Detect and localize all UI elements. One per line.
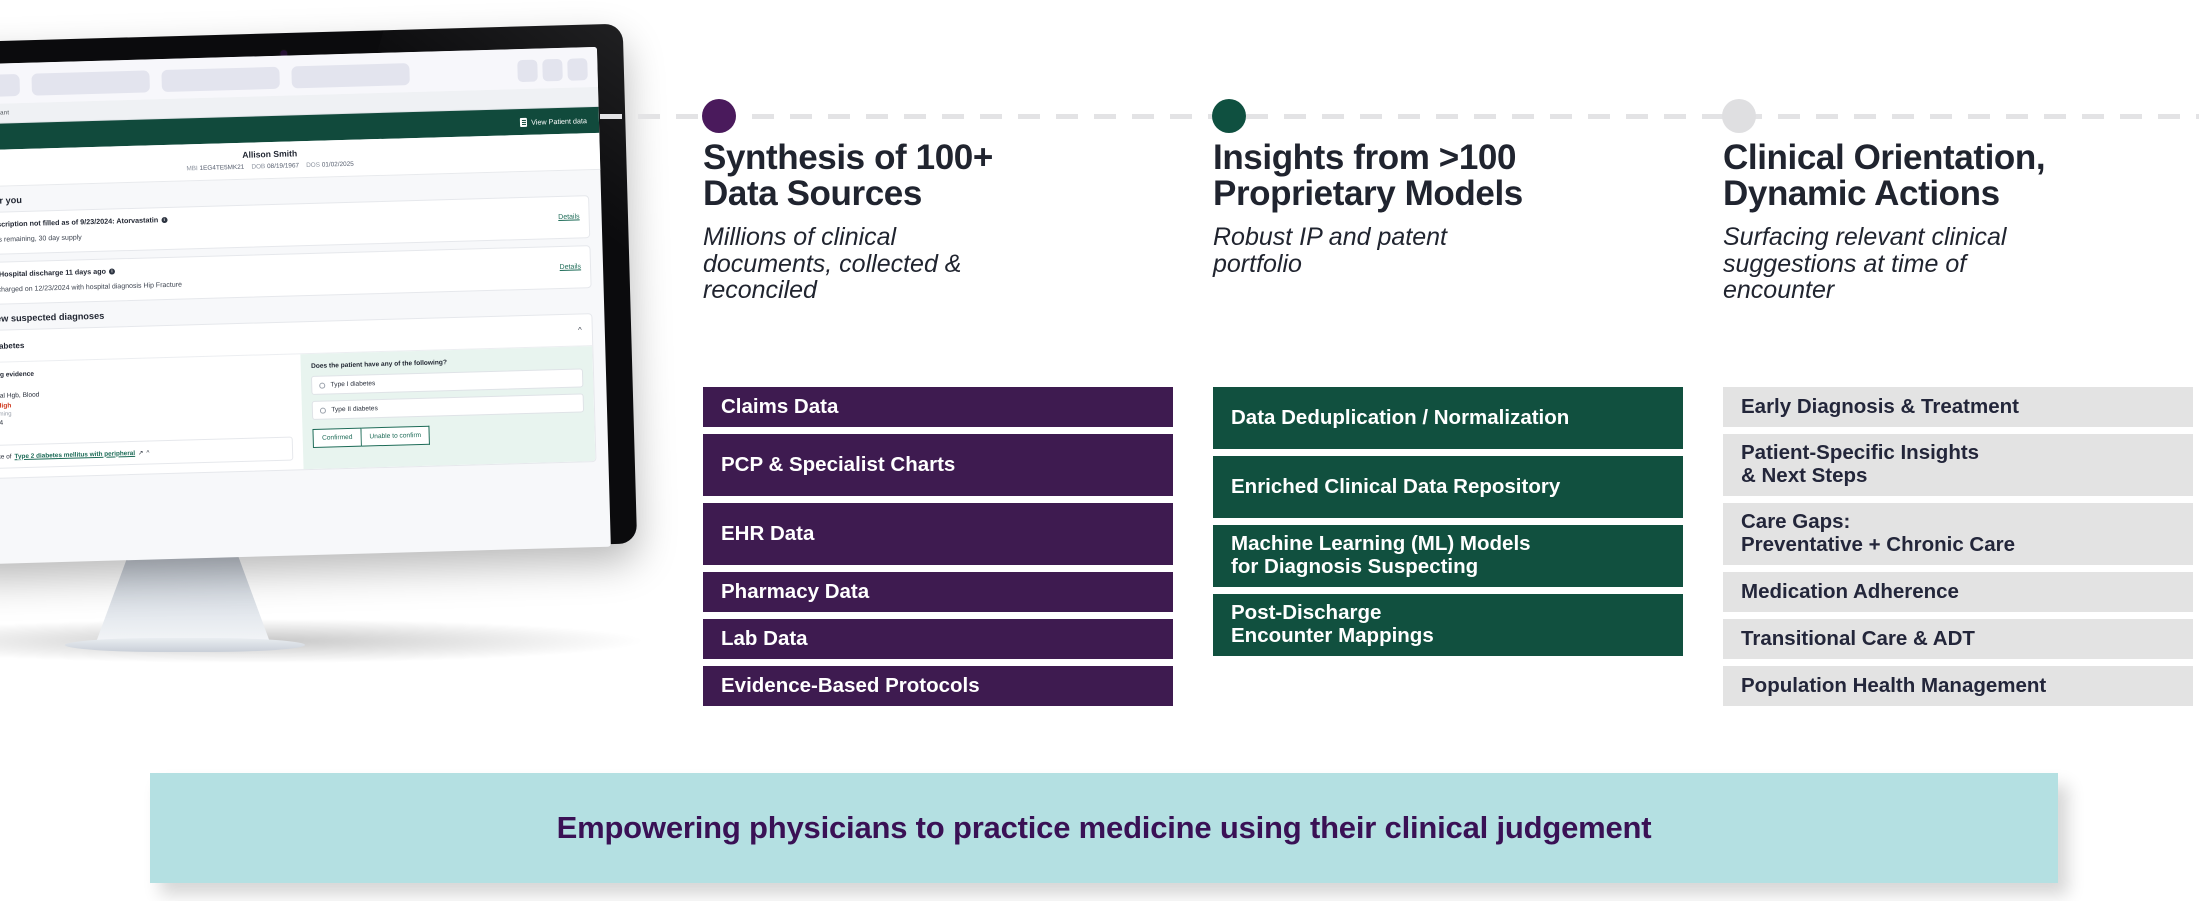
window-controls xyxy=(517,58,588,82)
column-title: Synthesis of 100+ Data Sources xyxy=(703,140,1173,211)
bar-item[interactable]: PCP & Specialist Charts xyxy=(703,434,1173,496)
bar-item[interactable]: Claims Data xyxy=(703,387,1173,427)
timeline-node-insights xyxy=(1212,99,1246,133)
timeline-node-synthesis xyxy=(702,99,736,133)
confirm-button-group: Confirmed Unable to confirm xyxy=(313,421,585,448)
bar-item[interactable]: Machine Learning (ML) Models for Diagnos… xyxy=(1213,525,1683,587)
flagged-item-title: ED/Hospital discharge 11 days ago xyxy=(0,267,106,279)
browser-tab[interactable] xyxy=(31,70,150,95)
bar-item[interactable]: Post-Discharge Encounter Mappings xyxy=(1213,594,1683,656)
flagged-item-subtitle: 2 fills remaining, 30 day supply xyxy=(0,234,82,244)
bar-item[interactable]: Evidence-Based Protocols xyxy=(703,666,1173,706)
flagged-item-body: ED/Hospital discharge 11 days ago i Disc… xyxy=(0,254,552,297)
bar-item[interactable]: Pharmacy Data xyxy=(703,572,1173,612)
view-patient-data-label: View Patient data xyxy=(531,116,587,127)
browser-tab[interactable] xyxy=(0,74,20,98)
chevron-up-icon[interactable]: ^ xyxy=(146,449,149,456)
browser-tab[interactable] xyxy=(161,67,280,92)
external-link-icon[interactable]: ↗ xyxy=(138,449,144,457)
view-patient-data-button[interactable]: View Patient data xyxy=(520,116,587,127)
bar-item[interactable]: Transitional Care & ADT xyxy=(1723,619,2193,659)
column-title: Insights from >100 Proprietary Models xyxy=(1213,140,1683,211)
flagged-item-title-row: Prescription not filled as of 9/23/2024:… xyxy=(0,204,550,229)
bar-list-synthesis: Claims Data PCP & Specialist Charts EHR … xyxy=(703,387,1173,713)
dos-value: 01/02/2025 xyxy=(322,161,354,169)
monitor-stand-base xyxy=(65,638,305,652)
bar-item[interactable]: Patient-Specific Insights & Next Steps xyxy=(1723,434,2193,496)
supporting-evidence-panel: Supporting evidence Labs HbA1c/Total Hgb… xyxy=(0,354,304,479)
timeline-dashed-rule xyxy=(600,114,2199,119)
option-label: Type II diabetes xyxy=(331,405,378,413)
question-text: Does the patient have any of the followi… xyxy=(311,355,583,370)
bar-item[interactable]: Early Diagnosis & Treatment xyxy=(1723,387,2193,427)
bar-item[interactable]: Lab Data xyxy=(703,619,1173,659)
lab-flag: High xyxy=(0,402,11,409)
condition-line: Evidence of Type 2 diabetes mellitus wit… xyxy=(0,445,286,462)
bar-item[interactable]: Population Health Management xyxy=(1723,666,2193,706)
condition-link[interactable]: Type 2 diabetes mellitus with peripheral xyxy=(14,449,135,459)
column-insights: Insights from >100 Proprietary Models Ro… xyxy=(1213,140,1683,277)
column-title: Clinical Orientation, Dynamic Actions xyxy=(1723,140,2193,211)
flagged-item-title: Prescription not filled as of 9/23/2024:… xyxy=(0,215,158,229)
dob-value: 08/19/1967 xyxy=(267,162,299,170)
mbi-value: 1EG4TE5MK21 xyxy=(199,164,244,172)
condition-prefix: Evidence of xyxy=(0,453,12,461)
flagged-item-subtitle: Discharged on 12/23/2024 with hospital d… xyxy=(0,282,182,294)
bar-item[interactable]: Care Gaps: Preventative + Chronic Care xyxy=(1723,503,2193,565)
radio-icon[interactable] xyxy=(320,382,326,388)
diagnosis-name: Diabetes xyxy=(0,326,570,351)
tagline-banner: Empowering physicians to practice medici… xyxy=(150,773,2058,883)
flagged-item-body: Prescription not filled as of 9/23/2024:… xyxy=(0,204,551,247)
dos-label: DOS xyxy=(306,162,320,169)
info-icon[interactable]: i xyxy=(161,216,167,222)
option-label: Type I diabetes xyxy=(330,380,375,388)
bar-item[interactable]: Enriched Clinical Data Repository xyxy=(1213,456,1683,518)
question-panel: Does the patient have any of the followi… xyxy=(301,346,596,469)
column-subtitle: Surfacing relevant clinical suggestions … xyxy=(1723,224,2193,303)
unable-to-confirm-button[interactable]: Unable to confirm xyxy=(361,426,430,447)
document-icon xyxy=(520,117,527,126)
bar-list-clinical: Early Diagnosis & Treatment Patient-Spec… xyxy=(1723,387,2193,713)
monitor-mockup: C Clover Assistant Visit View Patient da… xyxy=(0,18,660,678)
details-link[interactable]: Details xyxy=(560,263,582,271)
minimize-button[interactable] xyxy=(517,60,538,83)
timeline-node-clinical xyxy=(1722,99,1756,133)
tagline-text: Empowering physicians to practice medici… xyxy=(557,810,1652,846)
bar-item[interactable]: Medication Adherence xyxy=(1723,572,2193,612)
radio-icon[interactable] xyxy=(320,407,326,413)
column-clinical: Clinical Orientation, Dynamic Actions Su… xyxy=(1723,140,2193,303)
bar-item[interactable]: Data Deduplication / Normalization xyxy=(1213,387,1683,449)
monitor-screen: C Clover Assistant Visit View Patient da… xyxy=(0,47,611,565)
option-type-1[interactable]: Type I diabetes xyxy=(311,368,583,395)
app-title: Clover Assistant xyxy=(0,109,9,117)
diagnosis-card: ✱ Diabetes ^ Supporting evidence Labs Hb… xyxy=(0,313,596,480)
option-type-2[interactable]: Type II diabetes xyxy=(312,393,584,420)
column-synthesis: Synthesis of 100+ Data Sources Millions … xyxy=(703,140,1173,303)
flagged-item[interactable]: ⛰ ED/Hospital discharge 11 days ago i Di… xyxy=(0,245,592,306)
close-button[interactable] xyxy=(567,58,588,81)
bar-list-insights: Data Deduplication / Normalization Enric… xyxy=(1213,387,1683,663)
slide-canvas: C Clover Assistant Visit View Patient da… xyxy=(0,0,2199,901)
info-icon[interactable]: i xyxy=(109,268,115,274)
confirmed-button[interactable]: Confirmed xyxy=(313,428,362,448)
maximize-button[interactable] xyxy=(542,59,563,82)
dob-label: DOB xyxy=(251,163,265,170)
browser-tab[interactable] xyxy=(291,63,410,88)
chevron-up-icon[interactable]: ^ xyxy=(578,325,582,334)
diagnosis-card-body: Supporting evidence Labs HbA1c/Total Hgb… xyxy=(0,346,595,479)
column-subtitle: Robust IP and patent portfolio xyxy=(1213,224,1683,277)
details-link[interactable]: Details xyxy=(558,213,580,221)
mbi-label: MBI xyxy=(186,165,198,172)
condition-box: Evidence of Type 2 diabetes mellitus wit… xyxy=(0,437,294,470)
flagged-item-title-row: ED/Hospital discharge 11 days ago i xyxy=(0,254,552,279)
bar-item[interactable]: EHR Data xyxy=(703,503,1173,565)
column-subtitle: Millions of clinical documents, collecte… xyxy=(703,224,1173,303)
